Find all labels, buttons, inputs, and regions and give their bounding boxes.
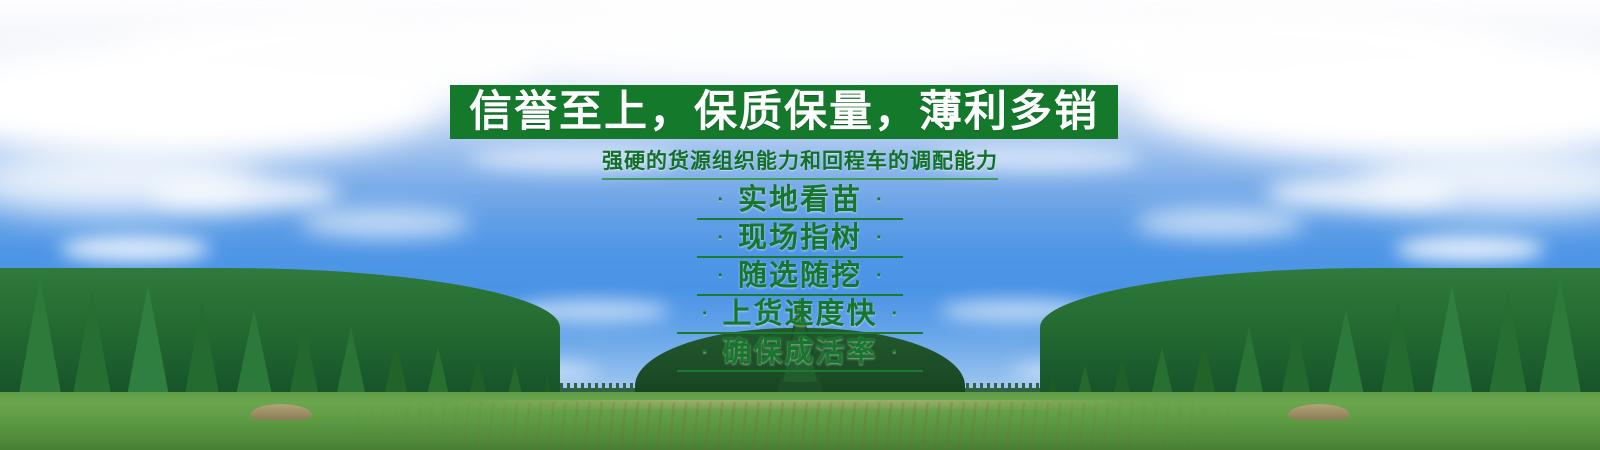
headline-bar: 信誉至上，保质保量，薄利多销 xyxy=(450,85,1118,139)
bullet-dot-right: · xyxy=(892,304,899,324)
subtitle-row: 强硬的货源组织能力和回程车的调配能力 xyxy=(0,145,1600,180)
subtitle-text: 强硬的货源组织能力和回程车的调配能力 xyxy=(602,145,998,180)
bullet-dot-right: · xyxy=(892,342,899,362)
feature-label: 现场指树 xyxy=(724,224,876,253)
feature-item-4: · 上货速度快 · xyxy=(677,296,923,334)
feature-label: 上货速度快 xyxy=(708,300,891,329)
headline-text: 信誉至上，保质保量，薄利多销 xyxy=(469,91,1099,134)
feature-item-3: · 随选随挖 · xyxy=(697,258,903,296)
promo-banner: 信誉至上，保质保量，薄利多销 强硬的货源组织能力和回程车的调配能力 · 实地看苗… xyxy=(0,0,1600,450)
bullet-dot-right: · xyxy=(876,228,883,248)
bullet-dot-left: · xyxy=(717,228,724,248)
bullet-dot-right: · xyxy=(876,190,883,210)
feature-label: 随选随挖 xyxy=(724,262,876,291)
feature-label: 确保成活率 xyxy=(708,338,891,367)
feature-item-2: · 现场指树 · xyxy=(697,220,903,258)
bullet-dot-left: · xyxy=(702,342,709,362)
feature-list: · 实地看苗 · · 现场指树 · · 随选随挖 · · 上货速度快 · · xyxy=(0,182,1600,372)
feature-label: 实地看苗 xyxy=(724,186,876,215)
banner-content: 信誉至上，保质保量，薄利多销 强硬的货源组织能力和回程车的调配能力 · 实地看苗… xyxy=(0,0,1600,450)
bullet-dot-right: · xyxy=(876,266,883,286)
bullet-dot-left: · xyxy=(702,304,709,324)
feature-item-5: · 确保成活率 · xyxy=(677,334,923,372)
bullet-dot-left: · xyxy=(717,266,724,286)
bullet-dot-left: · xyxy=(717,190,724,210)
feature-item-1: · 实地看苗 · xyxy=(697,182,903,220)
